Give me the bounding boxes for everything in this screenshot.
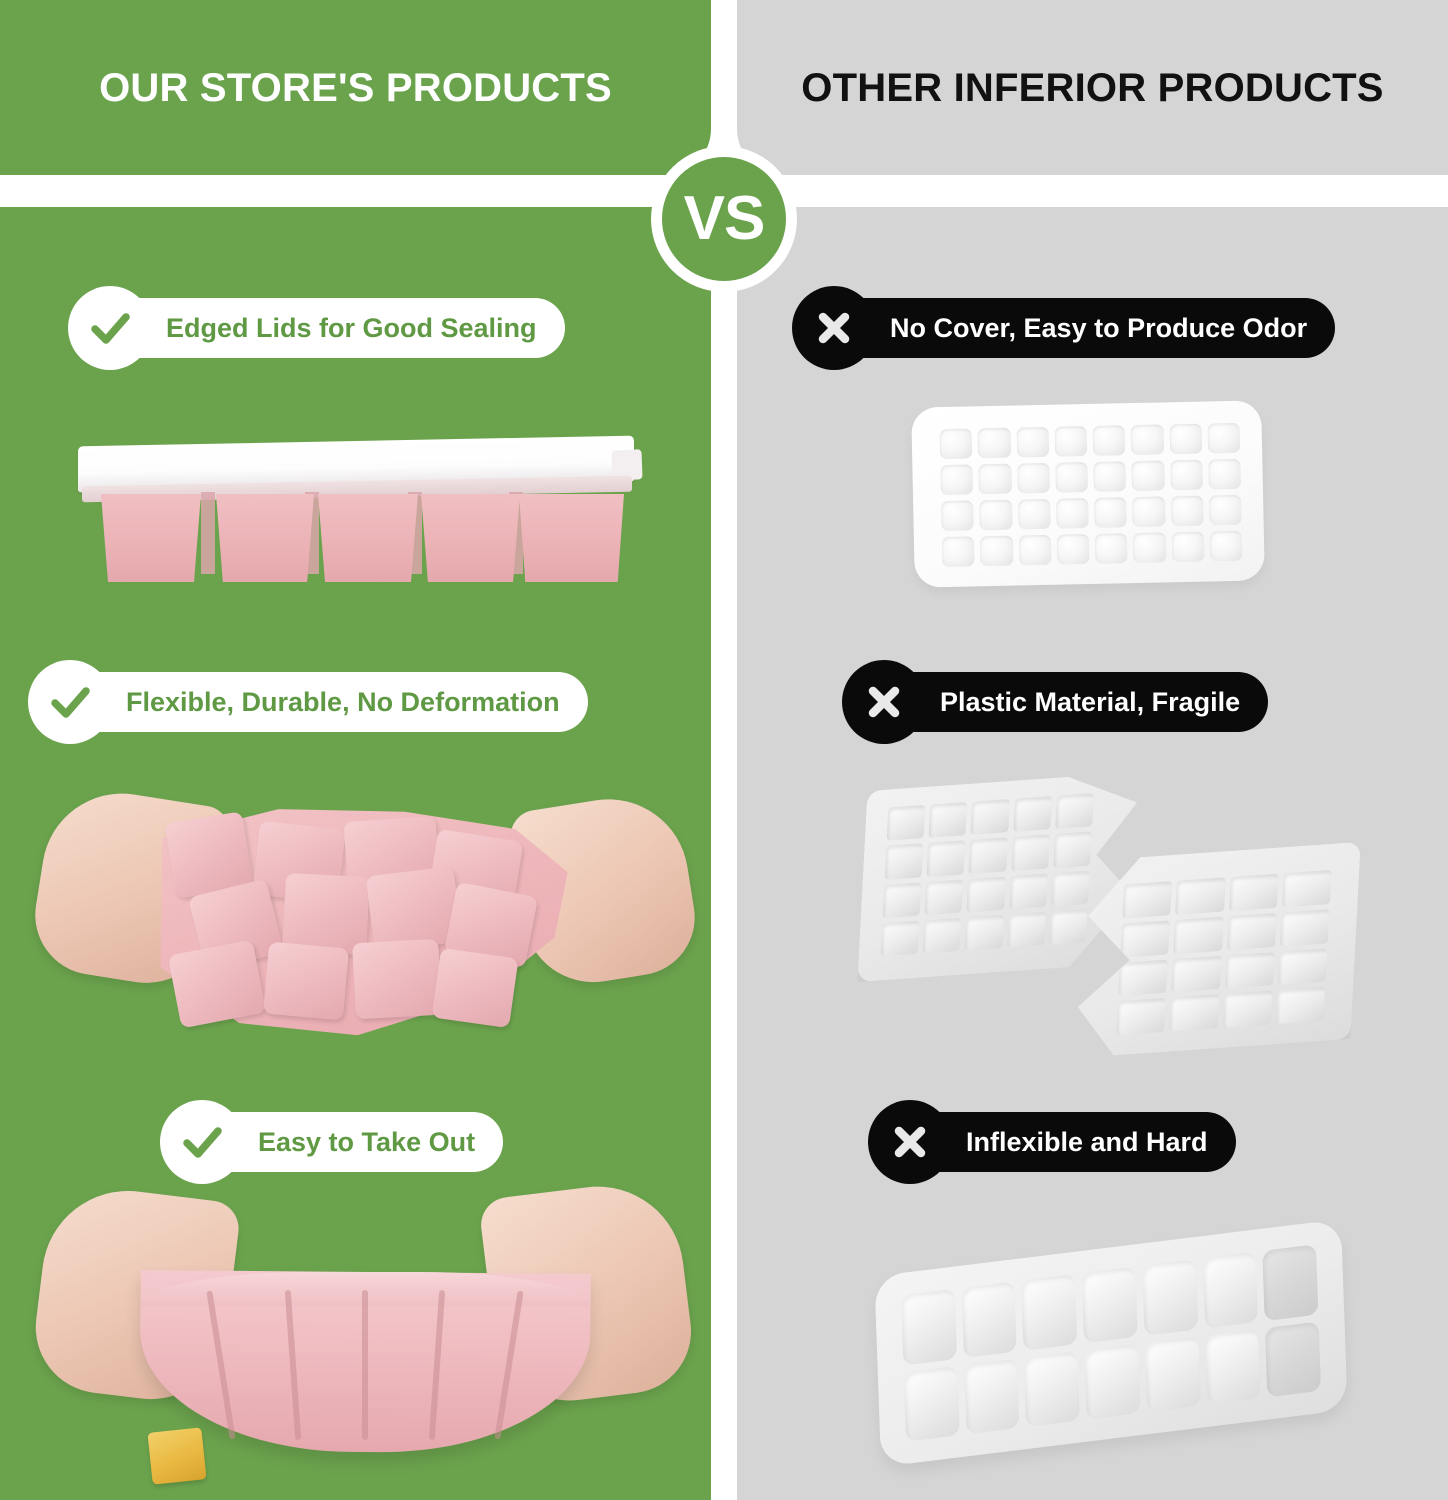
left-column-title: OUR STORE'S PRODUCTS — [99, 68, 612, 108]
check-icon-glyph — [87, 305, 133, 351]
tray-compartment — [887, 805, 926, 841]
feature-pill-bar: Inflexible and Hard — [906, 1112, 1236, 1172]
check-icon-glyph — [47, 679, 93, 725]
tray-compartment — [1095, 533, 1128, 564]
cross-icon-glyph — [812, 306, 856, 350]
tray-cube-cluster — [164, 813, 556, 1023]
tray-compartment — [1054, 426, 1087, 457]
tray-compartment — [929, 802, 968, 838]
tray-compartment — [1131, 424, 1164, 455]
check-icon-glyph — [179, 1119, 225, 1165]
feature-pill-bar: Plastic Material, Fragile — [880, 672, 1268, 732]
tray-compartment — [1169, 424, 1202, 455]
tray-compartment — [1055, 793, 1094, 829]
tray-compartment — [1013, 796, 1052, 832]
feature-pill-easy-take-out[interactable]: Easy to Take Out — [160, 1112, 503, 1172]
tray-compartment — [1207, 423, 1240, 454]
ice-cube-compartment — [1265, 1321, 1321, 1397]
tray-compartment — [965, 914, 1004, 950]
cross-icon — [792, 286, 876, 370]
tray-compartment — [1018, 499, 1051, 530]
feature-pill-bar: No Cover, Easy to Produce Odor — [830, 298, 1335, 358]
tray-compartment — [1275, 987, 1325, 1024]
tray-compartment — [979, 464, 1012, 495]
tray-compartment — [1171, 496, 1204, 527]
ice-cube-compartment — [1084, 1343, 1140, 1419]
tray-compartment — [421, 494, 520, 582]
tray-cell-grid — [940, 423, 1243, 567]
tray-cell-grid — [901, 1244, 1321, 1441]
tray-compartment — [1049, 909, 1088, 945]
tray-compartment — [1094, 497, 1127, 528]
tray-compartment — [942, 536, 975, 567]
check-icon — [68, 286, 152, 370]
tray-compartment — [1210, 531, 1243, 562]
tray-compartment — [971, 799, 1010, 835]
tray-compartment — [883, 882, 922, 918]
feature-pill-no-cover[interactable]: No Cover, Easy to Produce Odor — [792, 298, 1335, 358]
feature-pill-bar: Flexible, Durable, No Deformation — [66, 672, 588, 732]
tray-cube — [168, 939, 267, 1028]
tray-compartment — [1175, 877, 1225, 914]
tray-compartment — [1057, 534, 1090, 565]
tray-cell-grid — [881, 793, 1094, 956]
right-column-header: OTHER INFERIOR PRODUCTS — [737, 0, 1448, 175]
tray-compartment — [1055, 462, 1088, 493]
tray-compartment — [1282, 870, 1332, 907]
tray-compartment — [1226, 913, 1276, 950]
ice-cube-compartment — [904, 1365, 960, 1441]
tray-compartment — [1093, 425, 1126, 456]
tray-compartment — [925, 879, 964, 915]
ice-cube-compartment — [1082, 1266, 1138, 1342]
tray-compartment — [967, 876, 1006, 912]
tray-compartment — [216, 494, 314, 582]
ice-cube-compartment — [1202, 1252, 1258, 1328]
vs-connector — [715, 0, 733, 170]
feature-pill-edged-lids[interactable]: Edged Lids for Good Sealing — [68, 298, 565, 358]
ice-cube-compartment — [964, 1358, 1020, 1434]
ice-cube-compartment — [961, 1281, 1017, 1357]
cross-icon — [842, 660, 926, 744]
tray-compartment — [1051, 870, 1090, 906]
tray-divider — [201, 492, 215, 574]
tray-cube — [432, 948, 519, 1028]
tray-compartment — [980, 536, 1013, 567]
feature-label: Easy to Take Out — [258, 1129, 475, 1156]
comparison-infographic: OUR STORE'S PRODUCTS OTHER INFERIOR PROD… — [0, 0, 1448, 1500]
released-food-cube — [147, 1427, 206, 1484]
tray-compartment — [1280, 909, 1330, 946]
tray-cube — [263, 942, 349, 1021]
tray-compartment — [1209, 495, 1242, 526]
tray-compartment — [1056, 498, 1089, 529]
tray-compartment — [1133, 532, 1166, 563]
tray-compartment — [1122, 881, 1172, 918]
feature-pill-bar: Edged Lids for Good Sealing — [106, 298, 565, 358]
tray-compartment — [881, 920, 920, 956]
tray-compartment — [1173, 916, 1223, 953]
tray-compartment — [1170, 460, 1203, 491]
check-icon — [160, 1100, 244, 1184]
tray-compartment — [978, 428, 1011, 459]
tray-compartment — [1116, 998, 1166, 1035]
tray-compartment — [885, 843, 924, 879]
tray-compartment — [1222, 991, 1272, 1028]
tray-compartment — [979, 500, 1012, 531]
tray-compartment — [927, 840, 966, 876]
tray-compartment — [1171, 532, 1204, 563]
tray-compartment — [940, 464, 973, 495]
tray-compartment — [1017, 463, 1050, 494]
cross-icon-glyph — [862, 680, 906, 724]
tray-compartment — [940, 428, 973, 459]
feature-label: No Cover, Easy to Produce Odor — [890, 315, 1307, 342]
tray-compartment — [923, 917, 962, 953]
tray-compartment — [1132, 460, 1165, 491]
cross-icon — [868, 1100, 952, 1184]
curved-silicone-tray — [140, 1272, 590, 1472]
ice-cube-compartment — [1022, 1274, 1078, 1350]
tray-compartment — [1208, 459, 1241, 490]
flexed-silicone-tray — [150, 805, 570, 1055]
tray-compartment — [318, 494, 418, 582]
feature-pill-flexible[interactable]: Flexible, Durable, No Deformation — [28, 672, 588, 732]
feature-label: Flexible, Durable, No Deformation — [126, 689, 560, 716]
tray-cell-grid — [1116, 870, 1331, 1035]
tray-cube — [352, 939, 442, 1019]
tray-compartment — [1224, 952, 1274, 989]
vs-badge: VS — [651, 146, 797, 292]
ice-cube-compartment — [1142, 1259, 1198, 1335]
ice-cube-compartment — [1145, 1336, 1201, 1412]
ice-cube-compartment — [1263, 1244, 1319, 1320]
check-icon — [28, 660, 112, 744]
left-column-header: OUR STORE'S PRODUCTS — [0, 0, 711, 175]
feature-label: Edged Lids for Good Sealing — [166, 315, 537, 342]
feature-pill-inflexible[interactable]: Inflexible and Hard — [868, 1112, 1236, 1172]
right-column-title: OTHER INFERIOR PRODUCTS — [801, 68, 1383, 108]
tray-compartment — [1016, 427, 1049, 458]
tray-compartment — [1132, 496, 1165, 527]
tray-compartment — [1118, 959, 1168, 996]
tray-compartment — [969, 837, 1008, 873]
tray-compartment — [1120, 920, 1170, 957]
ice-cube-compartment — [1024, 1351, 1080, 1427]
tray-divider — [362, 1290, 368, 1440]
tray-compartment — [1228, 874, 1278, 911]
tray-compartment — [1171, 955, 1221, 992]
tray-compartment — [1018, 535, 1051, 566]
feature-pill-fragile[interactable]: Plastic Material, Fragile — [842, 672, 1268, 732]
tray-compartment — [1169, 994, 1219, 1031]
tray-compartment — [1007, 912, 1046, 948]
tray-compartment — [1009, 873, 1048, 909]
tray-compartment — [1053, 832, 1092, 868]
feature-label: Plastic Material, Fragile — [940, 689, 1240, 716]
vs-label: VS — [684, 188, 765, 250]
ice-cube-compartment — [901, 1289, 957, 1365]
ice-cube-compartment — [1205, 1328, 1261, 1404]
cross-icon-glyph — [888, 1120, 932, 1164]
tray-compartment — [1278, 948, 1328, 985]
feature-label: Inflexible and Hard — [966, 1129, 1208, 1156]
tray-compartment — [519, 494, 624, 582]
tray-compartment — [1011, 835, 1050, 871]
product-image-uncovered-tray — [911, 400, 1265, 587]
tray-compartment — [1093, 461, 1126, 492]
tray-compartment — [101, 494, 201, 582]
tray-compartment — [941, 500, 974, 531]
